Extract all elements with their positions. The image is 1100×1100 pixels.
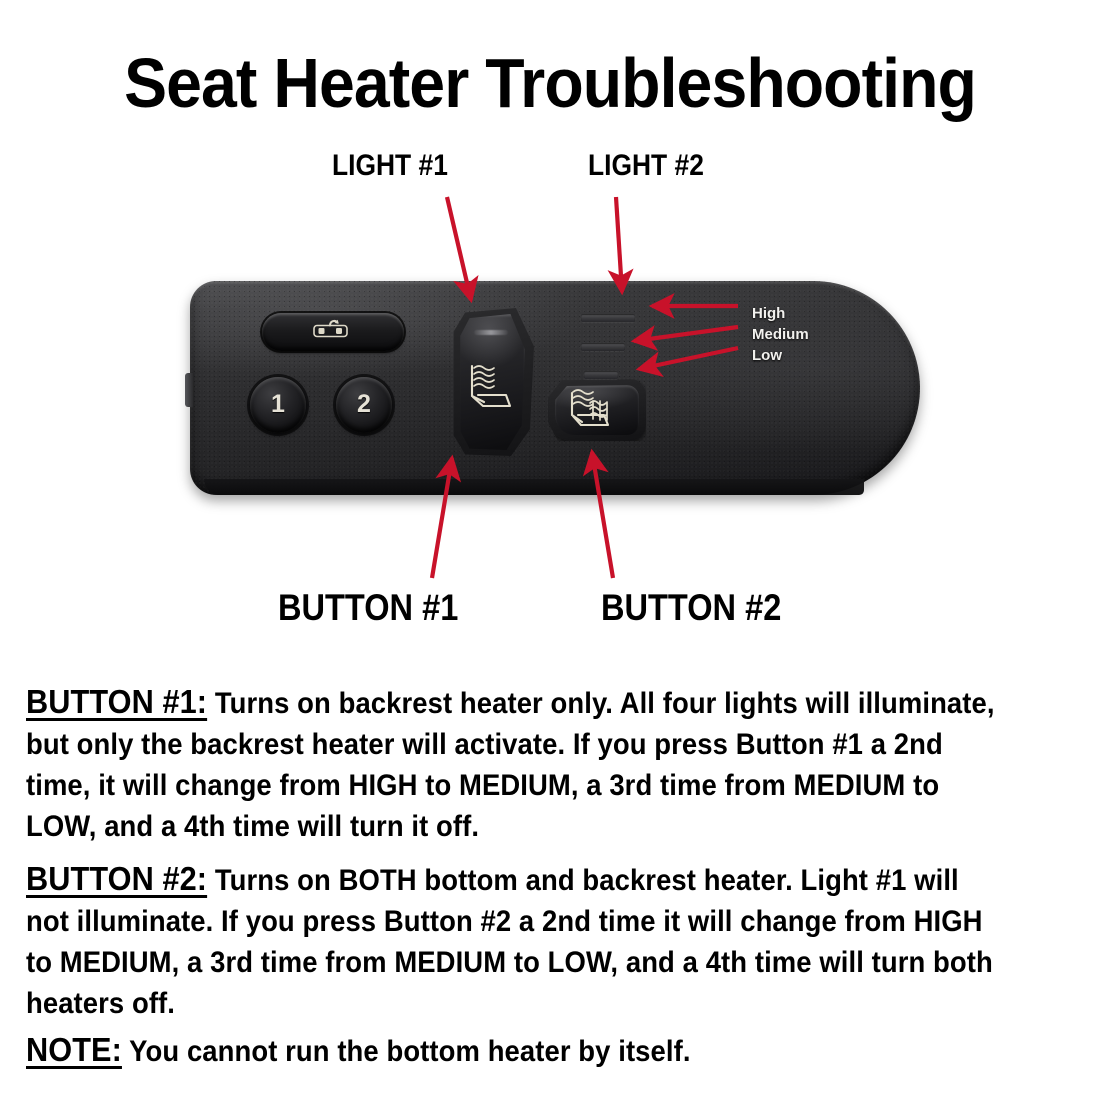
heater-button-1-highlight [474,330,508,335]
callout-label-button-1: BUTTON #1 [278,588,458,628]
memory-preset-button-1[interactable]: 1 [250,377,306,433]
heater-button-1[interactable] [452,308,534,456]
memory-preset-button-2-label: 2 [357,392,371,417]
paragraph-button-1-lead: BUTTON #1: [26,683,207,720]
indicator-slot-low [584,371,618,379]
paragraph-button-2: BUTTON #2: Turns on BOTH bottom and back… [26,858,1003,1024]
heater-button-2[interactable] [548,379,646,441]
panel-bottom-lip [204,479,864,495]
paragraph-note-lead: NOTE: [26,1031,122,1068]
memory-preset-button-1-label: 1 [271,392,285,417]
callout-label-light-1: LIGHT #1 [332,150,448,182]
arrow-light-2 [616,197,622,292]
indicator-slot-medium [581,343,625,351]
seat-heater-switch-panel: 1 2 [190,281,920,501]
indicator-label-medium: Medium [752,326,809,343]
panel-side-tab [185,373,193,407]
page-title: Seat Heater Troubleshooting [44,46,1056,120]
paragraph-note: NOTE: You cannot run the bottom heater b… [26,1029,1003,1072]
paragraph-button-2-lead: BUTTON #2: [26,860,207,897]
indicator-label-high: High [752,305,785,322]
seat-memory-icon [307,319,359,346]
indicator-label-low: Low [752,347,782,364]
troubleshooting-infographic: Seat Heater Troubleshooting LIGHT #1 LIG… [0,0,1100,1100]
heated-seat-and-backrest-icon [562,387,626,438]
memory-preset-button-2[interactable]: 2 [336,377,392,433]
paragraph-note-text: You cannot run the bottom heater by itse… [122,1035,691,1068]
callout-label-light-2: LIGHT #2 [588,150,704,182]
paragraph-button-1: BUTTON #1: Turns on backrest heater only… [26,681,1003,847]
heated-backrest-icon [462,362,516,427]
callout-label-button-2: BUTTON #2 [601,588,781,628]
indicator-slot-high [581,314,635,322]
seat-memory-rocker[interactable] [262,313,404,351]
